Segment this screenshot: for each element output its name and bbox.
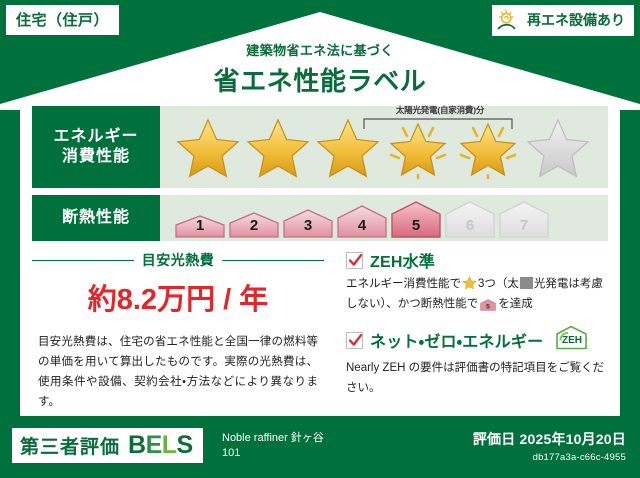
net-zero-energy-block: ネット・ゼロ・エネルギー ZEH Nearly ZEH の要件は評価書の特記項目… [346, 324, 608, 398]
lower-section: 目安光熱費 約8.2万円 / 年 目安光熱費は、住宅の省エネ性能と全国一律の燃料… [32, 248, 608, 413]
footer: 第三者評価 BELS Noble raffiner 針ヶ谷 101 評価日 20… [0, 420, 640, 478]
insulation-performance-body: 1 2 3 [160, 195, 608, 241]
star-6-empty [524, 114, 592, 180]
rule-right [222, 260, 324, 261]
zeh-section: ZEH水準 エネルギー消費性能で3つ（太光発電は考慮しない）、かつ断熱性能で5を… [332, 248, 608, 413]
bels-logo: BELS [128, 433, 193, 458]
inline-house-number: 5 [486, 303, 490, 310]
building-type-badge: 住宅（住戸） [6, 5, 119, 35]
zeh-standard-heading: ZEH水準 [346, 248, 608, 272]
star-rating [174, 114, 592, 180]
zeh-logo-icon: ZEH [554, 324, 590, 356]
insulation-level-scale: 1 2 3 [174, 198, 550, 238]
renewable-energy-badge: 再エネ設備あり [492, 5, 634, 36]
redacted-character [520, 277, 533, 289]
zeh-desc-part1: エネルギー消費性能で [346, 278, 461, 290]
third-party-evaluation-label: 第三者評価 [20, 432, 120, 459]
zeh-standard-block: ZEH水準 エネルギー消費性能で3つ（太光発電は考慮しない）、かつ断熱性能で5を… [346, 248, 608, 318]
zeh-standard-title: ZEH水準 [370, 248, 435, 272]
star-1-filled [174, 114, 242, 180]
rule-left [32, 260, 134, 261]
bels-certification-box: 第三者評価 BELS [12, 428, 203, 463]
zeh-logo-text: ZEH [562, 335, 582, 346]
renewable-energy-label: 再エネ設備あり [527, 10, 625, 30]
utility-cost-note: 目安光熱費は、住宅の省エネ性能と全国一律の燃料等の単価を用いて算出したものです。… [32, 332, 324, 413]
zeh-desc-star-text: 3つ（太 [478, 278, 519, 290]
inline-star-icon [462, 275, 477, 290]
evaluation-date: 評価日 2025年10月20日 [473, 429, 626, 449]
insulation-house-6-number: 6 [444, 217, 496, 234]
insulation-house-2: 2 [228, 206, 280, 238]
evaluation-id: db177a3a-c66c-4955 [473, 452, 626, 463]
insulation-performance-row: 断熱性能 1 [32, 195, 608, 241]
energy-performance-label-line1: エネルギー [53, 127, 138, 147]
insulation-house-4: 4 [336, 201, 388, 238]
utility-cost-section: 目安光熱費 約8.2万円 / 年 目安光熱費は、住宅の省エネ性能と全国一律の燃料… [32, 248, 332, 413]
energy-performance-row: エネルギー 消費性能 太陽光発電(自家消費)分 [32, 106, 608, 188]
check-icon [348, 253, 363, 268]
net-zero-energy-title: ネット・ゼロ・エネルギー [370, 328, 543, 352]
zeh-standard-description: エネルギー消費性能で3つ（太光発電は考慮しない）、かつ断熱性能で5を達成 [346, 275, 608, 318]
building-type-label: 住宅（住戸） [16, 9, 109, 30]
net-zero-energy-description: Nearly ZEH の要件は評価書の特記項目をご覧ください。 [346, 359, 608, 398]
label-title-main: 省エネ性能ラベル [0, 61, 640, 98]
evaluation-info: 評価日 2025年10月20日 db177a3a-c66c-4955 [473, 429, 626, 463]
property-info: Noble raffiner 針ヶ谷 101 [222, 431, 324, 461]
inline-house-badge: 5 [480, 298, 496, 319]
check-icon [348, 333, 363, 348]
insulation-house-6: 6 [444, 198, 496, 238]
star-4-filled-solar [384, 114, 452, 180]
property-name: Noble raffiner 針ヶ谷 [222, 431, 324, 446]
label-title: 建築物省エネ法に基づく 省エネ性能ラベル [0, 40, 640, 98]
energy-performance-body: 太陽光発電(自家消費)分 [160, 106, 608, 188]
energy-saving-performance-label: 住宅（住戸） 再エネ設備あり 建築物省エネ法に基づく 省エネ性能ラベル [0, 0, 640, 478]
net-zero-energy-heading: ネット・ゼロ・エネルギー ZEH [346, 324, 608, 356]
main-panel: エネルギー 消費性能 太陽光発電(自家消費)分 [20, 98, 620, 416]
star-2-filled [244, 114, 312, 180]
insulation-performance-label-text: 断熱性能 [62, 208, 130, 228]
energy-performance-label-line2: 消費性能 [62, 147, 130, 167]
utility-cost-value: 約8.2万円 / 年 [32, 276, 324, 318]
insulation-house-1: 1 [174, 208, 226, 238]
zeh-desc-part3: を達成 [498, 298, 533, 310]
sun-icon [497, 8, 523, 32]
insulation-house-7: 7 [498, 198, 550, 238]
star-5-filled-solar [454, 114, 522, 180]
utility-cost-heading-text: 目安光熱費 [142, 250, 215, 270]
net-zero-energy-checkbox [346, 332, 363, 349]
property-unit: 101 [222, 446, 324, 461]
insulation-house-1-number: 1 [174, 217, 226, 234]
label-title-sub: 建築物省エネ法に基づく [0, 40, 640, 59]
insulation-house-5-achieved: 5 [390, 198, 442, 238]
energy-performance-label: エネルギー 消費性能 [32, 106, 160, 188]
insulation-house-5-number: 5 [390, 217, 442, 234]
insulation-performance-label: 断熱性能 [32, 195, 160, 241]
insulation-house-3: 3 [282, 204, 334, 238]
insulation-house-3-number: 3 [282, 217, 334, 234]
star-3-filled [314, 114, 382, 180]
insulation-house-7-number: 7 [498, 217, 550, 234]
utility-cost-heading: 目安光熱費 [32, 250, 324, 270]
insulation-house-2-number: 2 [228, 217, 280, 234]
zeh-standard-checkbox [346, 252, 363, 269]
insulation-house-4-number: 4 [336, 217, 388, 234]
